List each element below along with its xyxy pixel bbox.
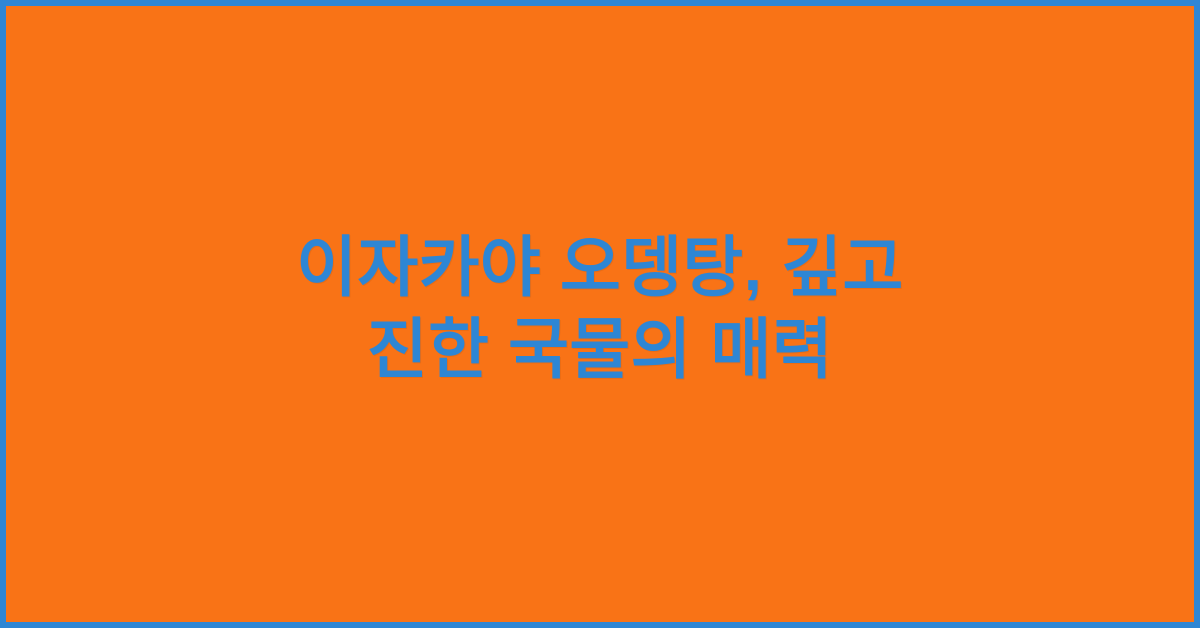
page-title: 이자카야 오뎅탕, 깊고 진한 국물의 매력: [220, 226, 980, 390]
title-line-2: 진한 국물의 매력: [220, 308, 980, 390]
title-banner: 이자카야 오뎅탕, 깊고 진한 국물의 매력: [0, 0, 1200, 628]
title-line-1: 이자카야 오뎅탕, 깊고: [220, 226, 980, 308]
